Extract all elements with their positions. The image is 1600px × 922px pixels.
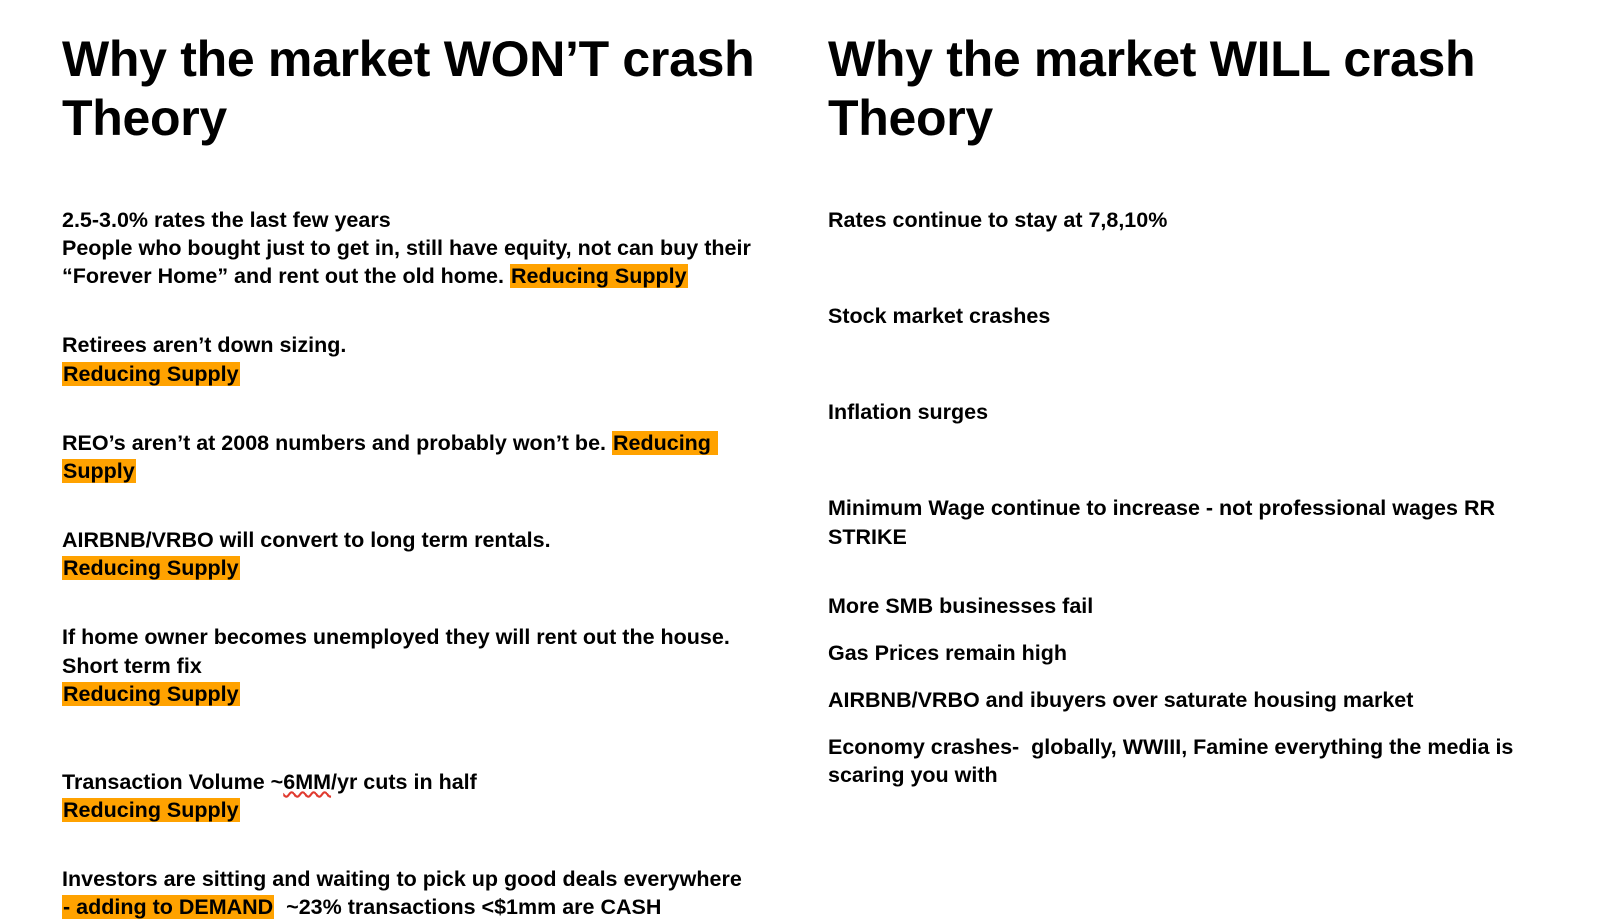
text-block-investors-waiting-cash-deals: Investors are sitting and waiting to pic… [62,865,778,921]
spellcheck-flagged-text: 6MM [283,770,331,794]
highlighted-text: Reducing Supply [62,556,240,580]
highlighted-text: - adding to DEMAND [62,895,274,919]
body-text: AIRBNB/VRBO and ibuyers over saturate ho… [828,688,1413,712]
body-text: REO’s aren’t at 2008 numbers and probabl… [62,431,612,455]
body-text: AIRBNB/VRBO will convert to long term re… [62,528,551,552]
right-column: Why the market WILL crash Theory Rates c… [800,0,1600,871]
text-block-stock-market-crashes: Stock market crashes [828,302,1578,330]
body-text: Gas Prices remain high [828,641,1067,665]
text-block-airbnb-vrbo-long-term-rentals: AIRBNB/VRBO will convert to long term re… [62,526,778,582]
text-block-retirees-down-sizing: Retirees aren’t down sizing.Reducing Sup… [62,331,778,387]
text-block-reo-2008-numbers: REO’s aren’t at 2008 numbers and probabl… [62,429,778,485]
body-text: Rates continue to stay at 7,8,10% [828,208,1167,232]
right-column-title: Why the market WILL crash Theory [828,30,1578,148]
body-text: Retirees aren’t down sizing. [62,333,346,357]
slide-root: Why the market WON’T crash Theory 2.5-3.… [0,0,1600,871]
body-text: People who bought just to get in, still … [62,236,751,260]
text-block-rates-stay-high: Rates continue to stay at 7,8,10% [828,206,1578,234]
body-text: Stock market crashes [828,304,1050,328]
text-block-airbnb-ibuyers-saturate: AIRBNB/VRBO and ibuyers over saturate ho… [828,686,1578,714]
body-text: Short term fix [62,654,202,678]
text-block-minimum-wage-rr-strike: Minimum Wage continue to increase - not … [828,494,1578,550]
body-text: Economy crashes- globally, WWIII, Famine… [828,735,1513,759]
text-block-gas-prices-remain-high: Gas Prices remain high [828,639,1578,667]
text-block-economy-crashes-globally: Economy crashes- globally, WWIII, Famine… [828,733,1578,789]
right-column-blocks: Rates continue to stay at 7,8,10%Stock m… [828,206,1578,790]
text-block-transaction-volume-cuts-in-half: Transaction Volume ~6MM/yr cuts in halfR… [62,768,778,824]
body-text: 2.5-3.0% rates the last few years [62,208,391,232]
left-column-blocks: 2.5-3.0% rates the last few yearsPeople … [62,206,778,922]
text-block-inflation-surges: Inflation surges [828,398,1578,426]
body-text: scaring you with [828,763,998,787]
highlighted-text: Reducing Supply [510,264,688,288]
body-text: Inflation surges [828,400,988,424]
two-column-layout: Why the market WON’T crash Theory 2.5-3.… [0,0,1600,871]
highlighted-text: Reducing Supply [62,682,240,706]
text-block-unemployed-home-owner-rents: If home owner becomes unemployed they wi… [62,623,778,707]
body-text: If home owner becomes unemployed they wi… [62,625,730,649]
highlighted-text: Reducing Supply [62,362,240,386]
body-text: More SMB businesses fail [828,594,1093,618]
body-text: “Forever Home” and rent out the old home… [62,264,510,288]
body-text: Minimum Wage continue to increase - not … [828,496,1495,520]
text-block-rates-equity-forever-home: 2.5-3.0% rates the last few yearsPeople … [62,206,778,290]
left-column-title: Why the market WON’T crash Theory [62,30,778,148]
body-text: /yr cuts in half [331,770,477,794]
highlighted-text: Reducing Supply [62,798,240,822]
body-text: Transaction Volume ~ [62,770,283,794]
body-text: STRIKE [828,525,907,549]
left-column: Why the market WON’T crash Theory 2.5-3.… [0,0,800,871]
text-block-smb-businesses-fail: More SMB businesses fail [828,592,1578,620]
body-text: ~23% transactions <$1mm are CASH [274,895,661,919]
